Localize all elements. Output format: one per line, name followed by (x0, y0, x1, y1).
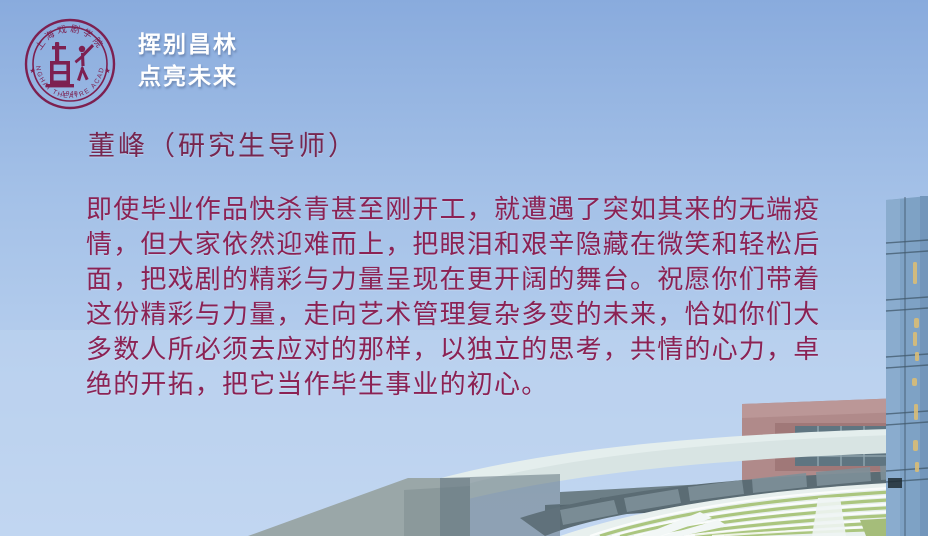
header-title: 挥别昌林 点亮未来 (138, 28, 458, 92)
brick-building (742, 398, 928, 536)
academy-seal-logo: 上海戏剧学院 SHANGHAI THEATRE ACADEMY ★ ★ (22, 16, 118, 112)
svg-text:1945: 1945 (62, 91, 79, 98)
message-body: 即使毕业作品快杀青甚至刚开工，就遭遇了突如其来的无端疫 情，但大家依然迎难而上，… (86, 192, 886, 402)
slide-root: 上海戏剧学院 SHANGHAI THEATRE ACADEMY ★ ★ (0, 0, 928, 536)
message-line: 情，但大家依然迎难而上，把眼泪和艰辛隐藏在微笑和轻松后 (86, 227, 886, 262)
message-line: 即使毕业作品快杀青甚至刚开工，就遭遇了突如其来的无端疫 (86, 192, 886, 227)
stadium-seating-tiers (560, 481, 928, 536)
message-line: 这份精彩与力量，走向艺术管理复杂多变的未来，恰如你们大 (86, 297, 886, 332)
speaker-name: 董峰（研究生导师） (88, 126, 886, 166)
message-line: 多数人所必须去应对的那样，以独立的思考，共情的心力，卓 (86, 332, 886, 367)
main-content: 董峰（研究生导师） 即使毕业作品快杀青甚至刚开工，就遭遇了突如其来的无端疫 情，… (86, 126, 886, 402)
svg-text:★: ★ (104, 67, 110, 75)
glass-tower (886, 196, 928, 536)
message-line: 面，把戏剧的精彩与力量呈现在更开阔的舞台。祝愿你们带着 (86, 262, 886, 297)
stadium-stairs (812, 497, 846, 536)
shanghai-theatre-academy-seal-icon: 上海戏剧学院 SHANGHAI THEATRE ACADEMY ★ ★ (22, 16, 118, 112)
dark-structure-band (545, 473, 921, 518)
svg-text:★: ★ (29, 67, 35, 75)
header-title-line-1: 挥别昌林 (138, 28, 458, 60)
header-title-line-2: 点亮未来 (138, 60, 458, 92)
stadium-structure (248, 428, 928, 536)
message-line: 绝的开拓，把它当作毕生事业的初心。 (86, 367, 886, 402)
